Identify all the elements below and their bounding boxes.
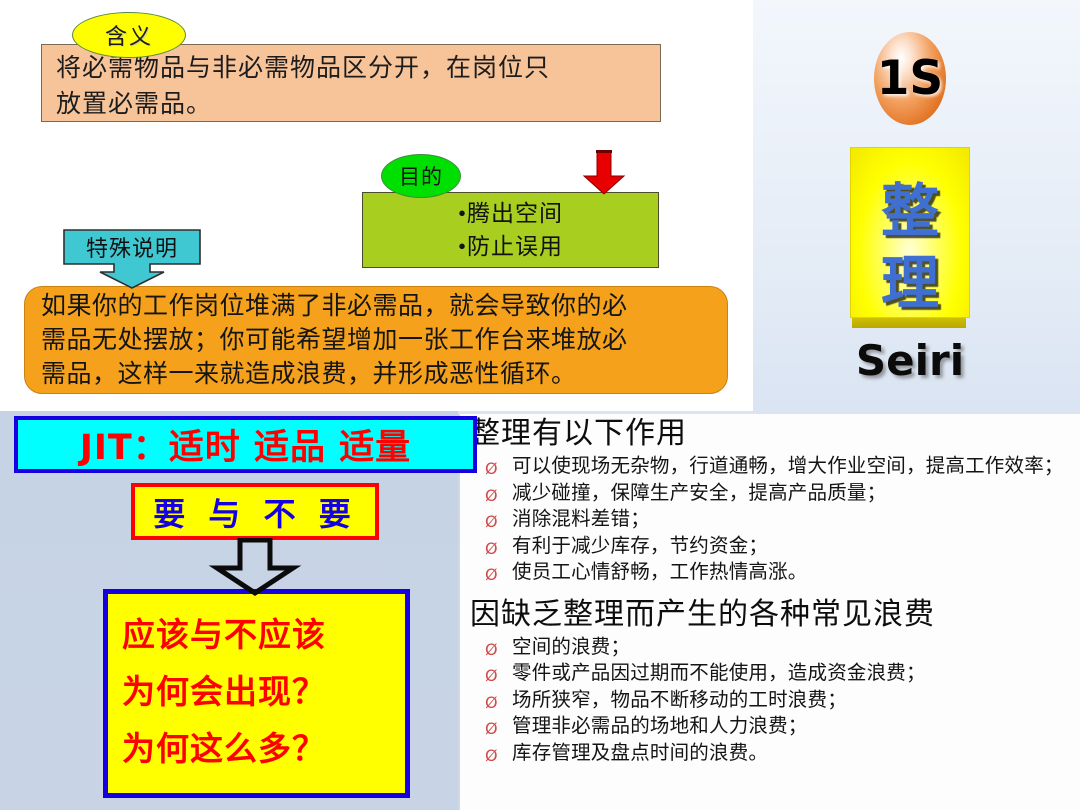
question-line-2: 为何会出现？ (122, 663, 405, 720)
seiri-romaji-label: Seiri (840, 336, 980, 385)
list-item-text: 消除混料差错； (512, 509, 650, 530)
list-item: Ø 零件或产品因过期而不能使用，造成资金浪费； (468, 661, 1074, 688)
note-line-1: 如果你的工作岗位堆满了非必需品，就会导致你的必 (41, 290, 711, 324)
list-item-text: 使员工心情舒畅，工作热情高涨。 (512, 562, 808, 583)
decision-banner: 要 与 不 要 (131, 483, 379, 540)
seiri-tile: 整 理 (850, 147, 970, 318)
objective-item-1: •腾出空间 (458, 197, 563, 230)
list-item-text: 零件或产品因过期而不能使用，造成资金浪费； (512, 663, 926, 684)
objective-oval-label: 目的 (381, 154, 461, 198)
wastes-heading: 因缺乏整理而产生的各种常见浪费 (470, 597, 1074, 633)
list-item-text: 管理非必需品的场地和人力浪费； (512, 716, 808, 737)
right-content-column: 整理有以下作用 Ø 可以使现场无杂物，行道通畅，增大作业空间，提高工作效率； Ø… (462, 416, 1080, 810)
meaning-line-2: 放置必需品。 (56, 87, 646, 123)
bullet-glyph-icon: Ø (485, 690, 498, 716)
note-line-2: 需品无处摆放；你可能希望增加一张工作台来堆放必 (41, 324, 711, 358)
bullet-glyph-icon: Ø (485, 637, 498, 663)
seiri-char-2: 理 (851, 236, 969, 320)
red-down-arrow-icon (580, 150, 628, 195)
bullet-glyph-icon: Ø (485, 509, 498, 535)
list-item: Ø 场所狭窄，物品不断移动的工时浪费； (468, 688, 1074, 715)
list-item: Ø 管理非必需品的场地和人力浪费； (468, 714, 1074, 741)
question-box: 应该与不应该 为何会出现？ 为何这么多？ (103, 589, 410, 798)
list-item: Ø 消除混料差错； (468, 507, 1074, 534)
question-line-1: 应该与不应该 (122, 606, 405, 663)
special-note-callout: 特殊说明 (62, 228, 202, 290)
step-badge-label: 1S (854, 48, 966, 108)
bullet-glyph-icon: Ø (485, 536, 498, 562)
list-item-text: 场所狭窄，物品不断移动的工时浪费； (512, 690, 847, 711)
list-item: Ø 减少碰撞，保障生产安全，提高产品质量； (468, 481, 1074, 508)
list-item: Ø 空间的浪费； (468, 635, 1074, 662)
question-line-3: 为何这么多？ (122, 720, 405, 777)
meaning-oval-label: 含义 (72, 12, 186, 58)
list-item: Ø 可以使现场无杂物，行道通畅，增大作业空间，提高工作效率； (468, 454, 1074, 481)
bullet-glyph-icon: Ø (485, 562, 498, 588)
jit-banner: JIT：适时 适品 适量 (14, 416, 477, 473)
special-note-label: 特殊说明 (62, 230, 202, 263)
bullet-glyph-icon: Ø (485, 716, 498, 742)
bullet-glyph-icon: Ø (485, 483, 498, 509)
list-item: Ø 有利于减少库存，节约资金； (468, 534, 1074, 561)
list-item: Ø 使员工心情舒畅，工作热情高涨。 (468, 560, 1074, 587)
benefits-list: Ø 可以使现场无杂物，行道通畅，增大作业空间，提高工作效率； Ø 减少碰撞，保障… (468, 454, 1074, 587)
black-down-arrow-icon (196, 538, 314, 596)
special-note-box: 如果你的工作岗位堆满了非必需品，就会导致你的必 需品无处摆放；你可能希望增加一张… (24, 286, 728, 394)
list-item-text: 可以使现场无杂物，行道通畅，增大作业空间，提高工作效率； (512, 456, 1064, 477)
list-item-text: 有利于减少库存，节约资金； (512, 536, 768, 557)
list-item: Ø 库存管理及盘点时间的浪费。 (468, 741, 1074, 768)
list-item-text: 库存管理及盘点时间的浪费。 (512, 743, 768, 764)
objective-box: •腾出空间 •防止误用 (362, 192, 659, 268)
wastes-list: Ø 空间的浪费； Ø 零件或产品因过期而不能使用，造成资金浪费； Ø 场所狭窄，… (468, 635, 1074, 768)
objective-item-2: •防止误用 (458, 230, 563, 263)
bullet-glyph-icon: Ø (485, 456, 498, 482)
benefits-heading: 整理有以下作用 (470, 416, 1074, 452)
bullet-glyph-icon: Ø (485, 663, 498, 689)
bullet-glyph-icon: Ø (485, 743, 498, 769)
slide-canvas: 含义 将必需物品与非必需物品区分开，在岗位只 放置必需品。 目的 •腾出空间 •… (0, 0, 1080, 810)
list-item-text: 空间的浪费； (512, 637, 630, 658)
list-item-text: 减少碰撞，保障生产安全，提高产品质量； (512, 483, 886, 504)
note-line-3: 需品，这样一来就造成浪费，并形成恶性循环。 (41, 358, 711, 392)
